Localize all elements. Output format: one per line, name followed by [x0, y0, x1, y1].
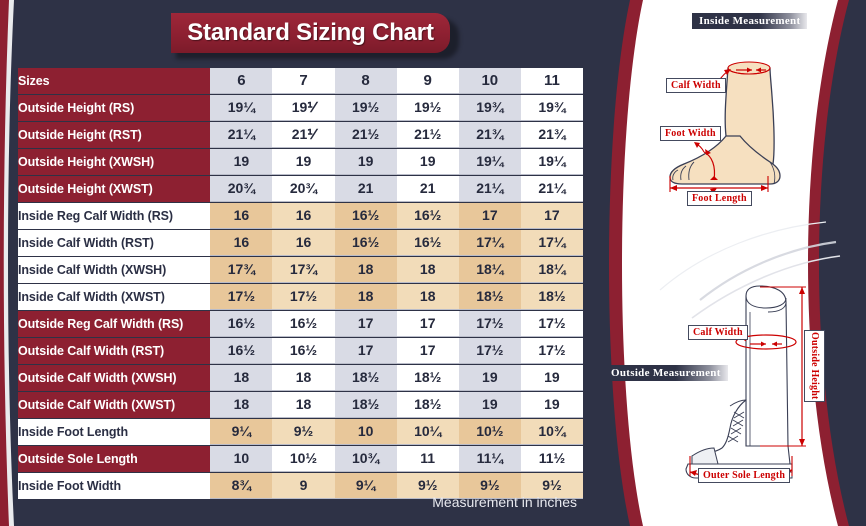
row-label: Inside Calf Width (XWST) — [18, 284, 210, 310]
cell-value: 16½ — [210, 311, 272, 337]
cell-value: 17¾ — [272, 257, 334, 283]
cell-value: 17 — [397, 338, 459, 364]
cell-value: 19½ — [335, 95, 397, 121]
cell-value: 9½ — [272, 419, 334, 445]
cell-value: 21¼ — [210, 122, 272, 148]
cell-value: 18 — [272, 392, 334, 418]
cell-value: 19⅟ — [272, 95, 334, 121]
cell-value: 19 — [397, 149, 459, 175]
inside-foot-length-label: Foot Length — [687, 191, 752, 206]
cell-value: 18¼ — [521, 257, 583, 283]
table-row: Inside Foot Length9¼9½1010¼10½10¾ — [18, 419, 583, 445]
cell-value: 9¼ — [210, 419, 272, 445]
cell-value: 18 — [335, 284, 397, 310]
cell-value: 18½ — [397, 365, 459, 391]
cell-value: 19¼ — [521, 149, 583, 175]
cell-value: 21 — [335, 176, 397, 202]
row-label: Outside Height (XWSH) — [18, 149, 210, 175]
diagram-panel: Inside Measurement — [600, 0, 866, 526]
table-row: Inside Calf Width (XWST)17½17½181818½18½ — [18, 284, 583, 310]
cell-value: 17½ — [272, 284, 334, 310]
cell-value: 18½ — [397, 392, 459, 418]
table-row: Outside Height (RST)21¼21⅟21½21½21¾21¾ — [18, 122, 583, 148]
table-row: Outside Height (XWSH)1919191919¼19¼ — [18, 149, 583, 175]
units-note: Measurement in inches — [18, 494, 583, 510]
outside-measurement-banner: Outside Measurement — [604, 365, 728, 381]
row-label: Outside Sole Length — [18, 446, 210, 472]
cell-value: 10¼ — [397, 419, 459, 445]
page-title: Standard Sizing Chart — [187, 19, 434, 47]
cell-value: 16½ — [210, 338, 272, 364]
cell-value: 16½ — [335, 230, 397, 256]
table-row: Inside Calf Width (RST)161616½16½17¼17¼ — [18, 230, 583, 256]
row-label: Outside Height (XWST) — [18, 176, 210, 202]
inside-foot-width-label: Foot Width — [660, 126, 721, 141]
cell-value: 16½ — [272, 311, 334, 337]
table-row: Outside Sole Length1010½10¾1111¼11½ — [18, 446, 583, 472]
cell-value: 17¼ — [521, 230, 583, 256]
cell-value: 16 — [272, 203, 334, 229]
cell-value: 10 — [335, 419, 397, 445]
cell-value: 17 — [397, 311, 459, 337]
cell-value: 19¾ — [521, 95, 583, 121]
sizing-table: Sizes 6 7 8 9 10 11 Outside Height (RS)1… — [18, 67, 583, 500]
cell-value: 20¾ — [272, 176, 334, 202]
cell-value: 19 — [459, 392, 521, 418]
cell-value: 10 — [210, 446, 272, 472]
cell-value: 21¼ — [459, 176, 521, 202]
cell-value: 18¼ — [459, 257, 521, 283]
size-header-9: 9 — [397, 68, 459, 94]
cell-value: 16 — [272, 230, 334, 256]
sizing-table-body: Sizes 6 7 8 9 10 11 Outside Height (RS)1… — [18, 68, 583, 499]
cell-value: 19 — [335, 149, 397, 175]
cell-value: 18 — [335, 257, 397, 283]
cell-value: 17½ — [521, 338, 583, 364]
cell-value: 18 — [397, 284, 459, 310]
cell-value: 17 — [335, 311, 397, 337]
cell-value: 16½ — [397, 230, 459, 256]
outside-measurement-illustration — [600, 260, 866, 526]
title-plate: Standard Sizing Chart — [171, 13, 450, 53]
cell-value: 17½ — [210, 284, 272, 310]
table-header-row: Sizes 6 7 8 9 10 11 — [18, 68, 583, 94]
cell-value: 19 — [272, 149, 334, 175]
cell-value: 18 — [397, 257, 459, 283]
cell-value: 19 — [521, 392, 583, 418]
size-header-7: 7 — [272, 68, 334, 94]
inside-measurement-illustration — [600, 0, 866, 260]
cell-value: 16 — [210, 203, 272, 229]
header-label-sizes: Sizes — [18, 68, 210, 94]
cell-value: 19½ — [397, 95, 459, 121]
cell-value: 11¼ — [459, 446, 521, 472]
cell-value: 17½ — [521, 311, 583, 337]
cell-value: 10½ — [459, 419, 521, 445]
inside-calf-width-label: Calf Width — [666, 78, 726, 93]
cell-value: 21½ — [335, 122, 397, 148]
row-label: Inside Calf Width (RST) — [18, 230, 210, 256]
cell-value: 17 — [459, 203, 521, 229]
cell-value: 21⅟ — [272, 122, 334, 148]
table-row: Outside Calf Width (XWST)181818½18½1919 — [18, 392, 583, 418]
cell-value: 21 — [397, 176, 459, 202]
cell-value: 11 — [397, 446, 459, 472]
size-header-8: 8 — [335, 68, 397, 94]
cell-value: 18 — [272, 365, 334, 391]
cell-value: 21¼ — [521, 176, 583, 202]
row-label: Outside Reg Calf Width (RS) — [18, 311, 210, 337]
cell-value: 16½ — [397, 203, 459, 229]
row-label: Inside Foot Length — [18, 419, 210, 445]
table-row: Outside Height (RS)19¼19⅟19½19½19¾19¾ — [18, 95, 583, 121]
outside-calf-width-label: Calf Width — [688, 325, 748, 340]
cell-value: 19¼ — [459, 149, 521, 175]
cell-value: 18 — [210, 365, 272, 391]
cell-value: 18½ — [459, 284, 521, 310]
table-row: Inside Calf Width (XWSH)17¾17¾181818¼18¼ — [18, 257, 583, 283]
outer-sole-length-label: Outer Sole Length — [698, 468, 790, 483]
size-header-10: 10 — [459, 68, 521, 94]
cell-value: 11½ — [521, 446, 583, 472]
table-row: Outside Height (XWST)20¾20¾212121¼21¼ — [18, 176, 583, 202]
size-header-6: 6 — [210, 68, 272, 94]
size-header-11: 11 — [521, 68, 583, 94]
cell-value: 17½ — [459, 311, 521, 337]
row-label: Outside Height (RST) — [18, 122, 210, 148]
cell-value: 19¼ — [210, 95, 272, 121]
table-row: Outside Reg Calf Width (RS)16½16½171717½… — [18, 311, 583, 337]
cell-value: 19¾ — [459, 95, 521, 121]
cell-value: 17 — [521, 203, 583, 229]
sizing-chart-page: Standard Sizing Chart Sizes 6 7 8 9 10 1… — [0, 0, 866, 526]
row-label: Outside Calf Width (XWSH) — [18, 365, 210, 391]
cell-value: 16½ — [272, 338, 334, 364]
row-label: Outside Height (RS) — [18, 95, 210, 121]
cell-value: 18½ — [335, 365, 397, 391]
row-label: Inside Reg Calf Width (RS) — [18, 203, 210, 229]
cell-value: 17¾ — [210, 257, 272, 283]
cell-value: 17¼ — [459, 230, 521, 256]
cell-value: 18 — [210, 392, 272, 418]
cell-value: 18½ — [335, 392, 397, 418]
title-banner: Standard Sizing Chart — [171, 13, 454, 56]
cell-value: 10¾ — [521, 419, 583, 445]
cell-value: 21½ — [397, 122, 459, 148]
cell-value: 16½ — [335, 203, 397, 229]
sizing-table-container: Sizes 6 7 8 9 10 11 Outside Height (RS)1… — [18, 67, 583, 500]
row-label: Outside Calf Width (RST) — [18, 338, 210, 364]
cell-value: 20¾ — [210, 176, 272, 202]
table-row: Inside Reg Calf Width (RS)161616½16½1717 — [18, 203, 583, 229]
cell-value: 10½ — [272, 446, 334, 472]
outside-height-label: Outside Height — [804, 330, 825, 402]
cell-value: 21¾ — [521, 122, 583, 148]
cell-value: 17 — [335, 338, 397, 364]
cell-value: 19 — [521, 365, 583, 391]
cell-value: 16 — [210, 230, 272, 256]
cell-value: 17½ — [459, 338, 521, 364]
cell-value: 18½ — [521, 284, 583, 310]
row-label: Inside Calf Width (XWSH) — [18, 257, 210, 283]
cell-value: 19 — [459, 365, 521, 391]
table-row: Outside Calf Width (XWSH)181818½18½1919 — [18, 365, 583, 391]
cell-value: 10¾ — [335, 446, 397, 472]
row-label: Outside Calf Width (XWST) — [18, 392, 210, 418]
cell-value: 19 — [210, 149, 272, 175]
table-row: Outside Calf Width (RST)16½16½171717½17½ — [18, 338, 583, 364]
cell-value: 21¾ — [459, 122, 521, 148]
